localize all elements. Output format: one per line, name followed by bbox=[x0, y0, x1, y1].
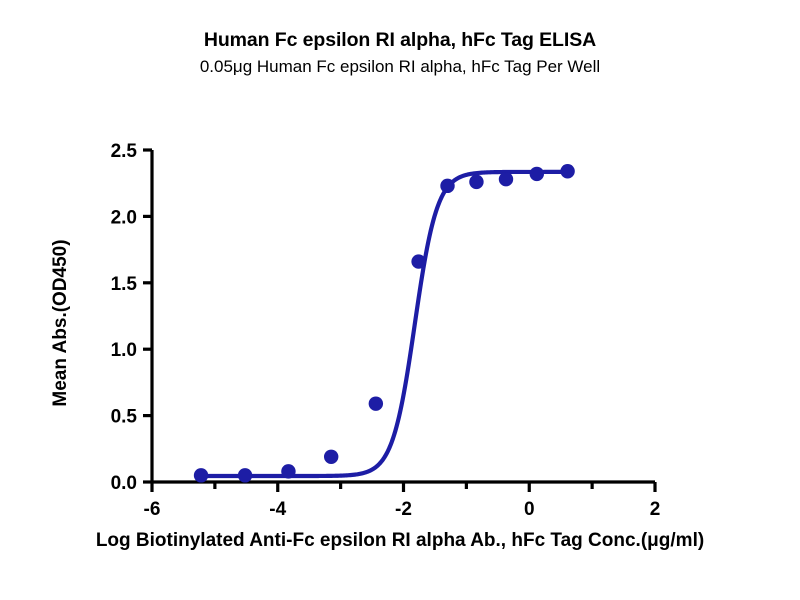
data-point bbox=[560, 164, 574, 178]
x-tick-label: -4 bbox=[269, 499, 286, 520]
data-point bbox=[281, 464, 295, 478]
sigmoid-fit-curve bbox=[201, 172, 568, 476]
y-tick-label: 0.5 bbox=[111, 407, 138, 428]
plot-area: 0.00.51.01.52.02.5-6-4-202 bbox=[0, 0, 800, 600]
data-point bbox=[440, 179, 454, 193]
x-tick-label: -6 bbox=[144, 499, 161, 520]
data-points-group bbox=[194, 164, 575, 483]
y-tick-label: 1.5 bbox=[111, 274, 138, 295]
x-tick-label: 2 bbox=[650, 499, 661, 520]
x-tick-label: 0 bbox=[524, 499, 535, 520]
y-tick-label: 0.0 bbox=[111, 473, 137, 494]
y-tick-label: 1.0 bbox=[111, 340, 137, 361]
data-point bbox=[369, 396, 383, 410]
data-point bbox=[411, 254, 425, 268]
data-point bbox=[324, 450, 338, 464]
x-tick-label: -2 bbox=[395, 499, 412, 520]
data-point bbox=[499, 172, 513, 186]
y-tick-label: 2.0 bbox=[111, 207, 137, 228]
fit-curve-group bbox=[201, 172, 568, 476]
chart-figure: Human Fc epsilon RI alpha, hFc Tag ELISA… bbox=[0, 0, 800, 600]
tick-marks-group bbox=[143, 150, 655, 492]
x-axis-title: Log Biotinylated Anti-Fc epsilon RI alph… bbox=[0, 530, 800, 552]
data-point bbox=[194, 468, 208, 482]
y-tick-label: 2.5 bbox=[111, 141, 138, 162]
axes-group bbox=[152, 150, 655, 482]
tick-labels-group: 0.00.51.01.52.02.5-6-4-202 bbox=[111, 141, 661, 520]
data-point bbox=[238, 468, 252, 482]
data-point bbox=[469, 175, 483, 189]
data-point bbox=[530, 167, 544, 181]
